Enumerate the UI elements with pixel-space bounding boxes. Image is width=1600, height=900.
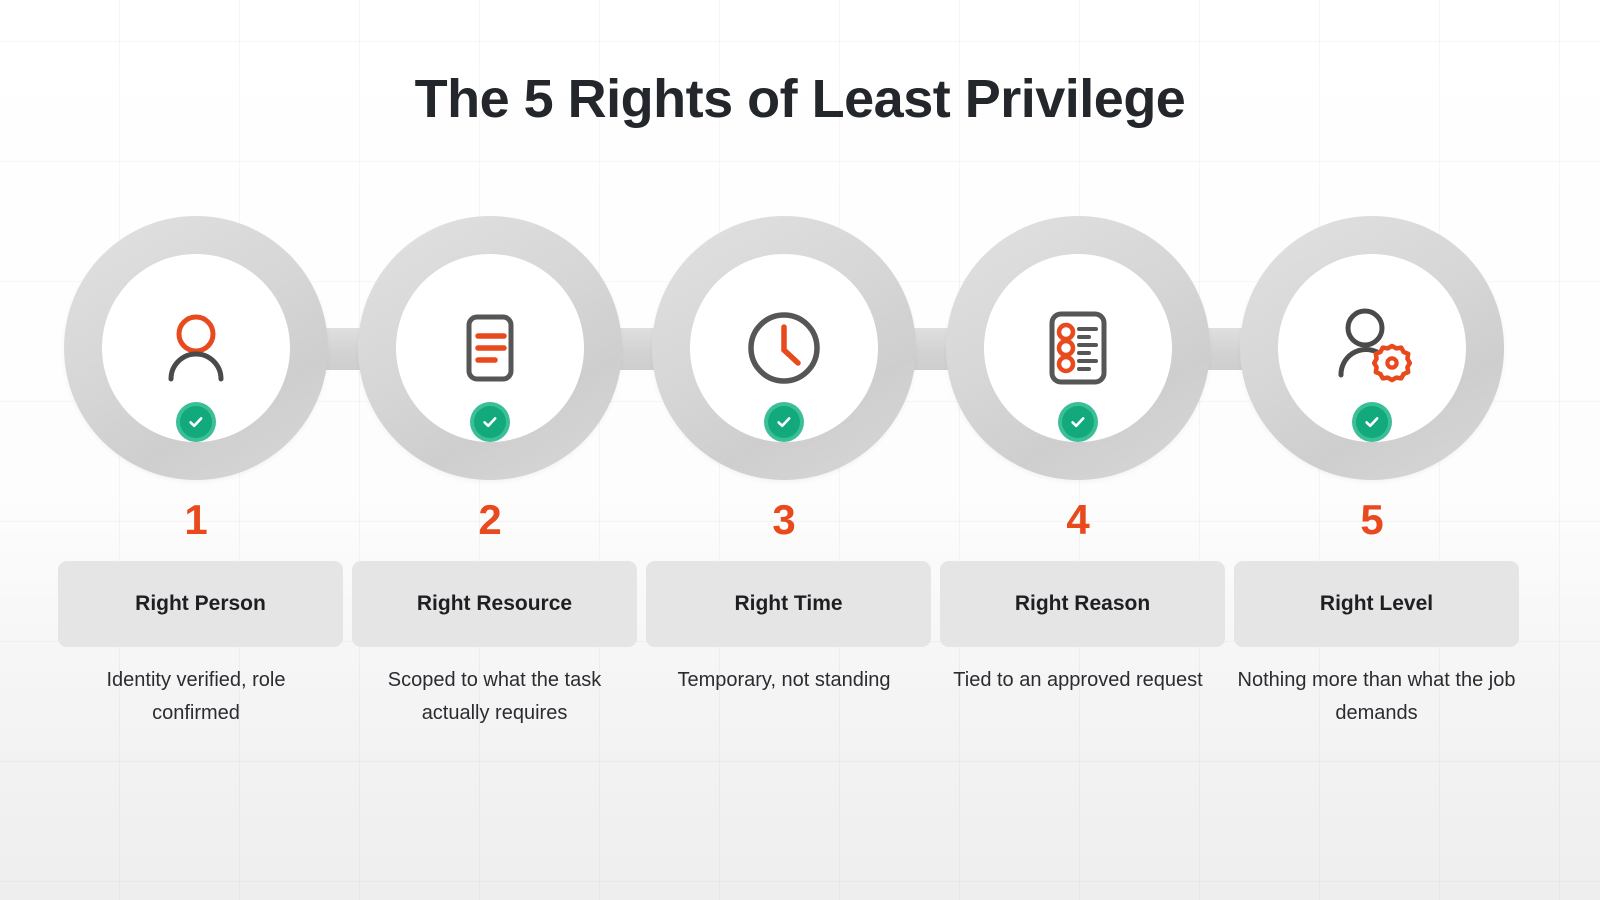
check-circle-icon-4 bbox=[1058, 402, 1098, 442]
step-number-1: 1 bbox=[64, 496, 328, 544]
step-node-2[interactable] bbox=[358, 216, 622, 480]
step-label-box-2[interactable]: Right Resource bbox=[352, 561, 637, 647]
check-circle-icon-5 bbox=[1352, 402, 1392, 442]
infographic-stage: The 5 Rights of Least Privilege bbox=[0, 0, 1600, 900]
step-label-4: Right Reason bbox=[1015, 592, 1150, 616]
step-node-4[interactable] bbox=[946, 216, 1210, 480]
step-labels-row: Right Person Right Resource Right Time R… bbox=[0, 561, 1600, 647]
step-label-5: Right Level bbox=[1320, 592, 1433, 616]
step-descriptions-row: Identity verified, role confirmed Scoped… bbox=[0, 664, 1600, 744]
step-label-box-5[interactable]: Right Level bbox=[1234, 561, 1519, 647]
step-description-1: Identity verified, role confirmed bbox=[64, 664, 328, 730]
step-node-5[interactable] bbox=[1240, 216, 1504, 480]
step-label-box-1[interactable]: Right Person bbox=[58, 561, 343, 647]
step-node-3[interactable] bbox=[652, 216, 916, 480]
step-number-4: 4 bbox=[946, 496, 1210, 544]
check-circle-icon-2 bbox=[470, 402, 510, 442]
step-label-2: Right Resource bbox=[417, 592, 572, 616]
step-label-1: Right Person bbox=[135, 592, 266, 616]
step-label-box-4[interactable]: Right Reason bbox=[940, 561, 1225, 647]
page-title: The 5 Rights of Least Privilege bbox=[0, 68, 1600, 130]
step-label-3: Right Time bbox=[734, 592, 842, 616]
step-number-2: 2 bbox=[358, 496, 622, 544]
steps-ring-row bbox=[0, 216, 1600, 486]
step-description-3: Temporary, not standing bbox=[652, 664, 916, 697]
check-circle-icon-3 bbox=[764, 402, 804, 442]
step-description-5: Nothing more than what the job demands bbox=[1234, 664, 1519, 730]
check-circle-icon-1 bbox=[176, 402, 216, 442]
step-number-3: 3 bbox=[652, 496, 916, 544]
step-description-4: Tied to an approved request bbox=[946, 664, 1210, 697]
step-number-5: 5 bbox=[1240, 496, 1504, 544]
step-numbers-row: 1 2 3 4 5 bbox=[0, 496, 1600, 552]
step-label-box-3[interactable]: Right Time bbox=[646, 561, 931, 647]
step-description-2: Scoped to what the task actually require… bbox=[352, 664, 637, 730]
step-node-1[interactable] bbox=[64, 216, 328, 480]
